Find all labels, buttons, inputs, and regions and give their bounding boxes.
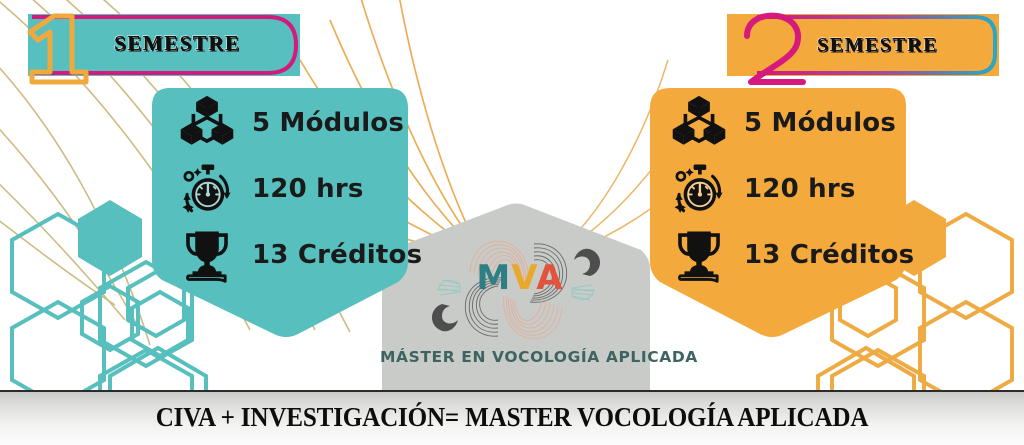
item-label: 13 Créditos	[744, 240, 914, 270]
trophy-book-icon	[178, 226, 236, 284]
list-item: 120 hrs	[178, 160, 364, 218]
semester-2-items: 5 Módulos	[628, 66, 928, 341]
bottom-banner: CIVA + INVESTIGACIÓN= MASTER VOCOLOGÍA A…	[0, 390, 1024, 445]
semester-1-label: SEMESTRE	[114, 31, 240, 56]
mva-logo-block: MVA MÁSTER EN VOCOLOGÍA APLICADA	[380, 200, 660, 392]
mva-letter-v: V	[511, 258, 536, 298]
cubes-modules-icon	[178, 94, 236, 152]
mva-letter-a: A	[536, 258, 563, 298]
trophy-book-icon	[670, 226, 728, 284]
semester-2-panel: 5 Módulos	[628, 66, 928, 341]
item-label: 5 Módulos	[744, 108, 896, 138]
list-item: 120 hrs	[670, 160, 856, 218]
logo-caption: MÁSTER EN VOCOLOGÍA APLICADA	[380, 348, 660, 366]
list-item: 5 Módulos	[670, 94, 896, 152]
infographic-canvas: SEMESTRE SEMESTRE	[0, 0, 1024, 445]
cubes-modules-icon	[670, 94, 728, 152]
banner-text: CIVA + INVESTIGACIÓN= MASTER VOCOLOGÍA A…	[36, 402, 988, 433]
mva-letter-m: M	[476, 258, 511, 298]
list-item: 13 Créditos	[670, 226, 914, 284]
item-label: 120 hrs	[744, 174, 856, 204]
stopwatch-icon	[178, 160, 236, 218]
item-label: 5 Módulos	[252, 108, 404, 138]
mva-wordmark: MVA	[380, 258, 660, 298]
item-label: 120 hrs	[252, 174, 364, 204]
list-item: 5 Módulos	[178, 94, 404, 152]
semester-1-numeral	[10, 10, 102, 86]
semester-2-label: SEMESTRE	[817, 34, 938, 57]
stopwatch-icon	[670, 160, 728, 218]
